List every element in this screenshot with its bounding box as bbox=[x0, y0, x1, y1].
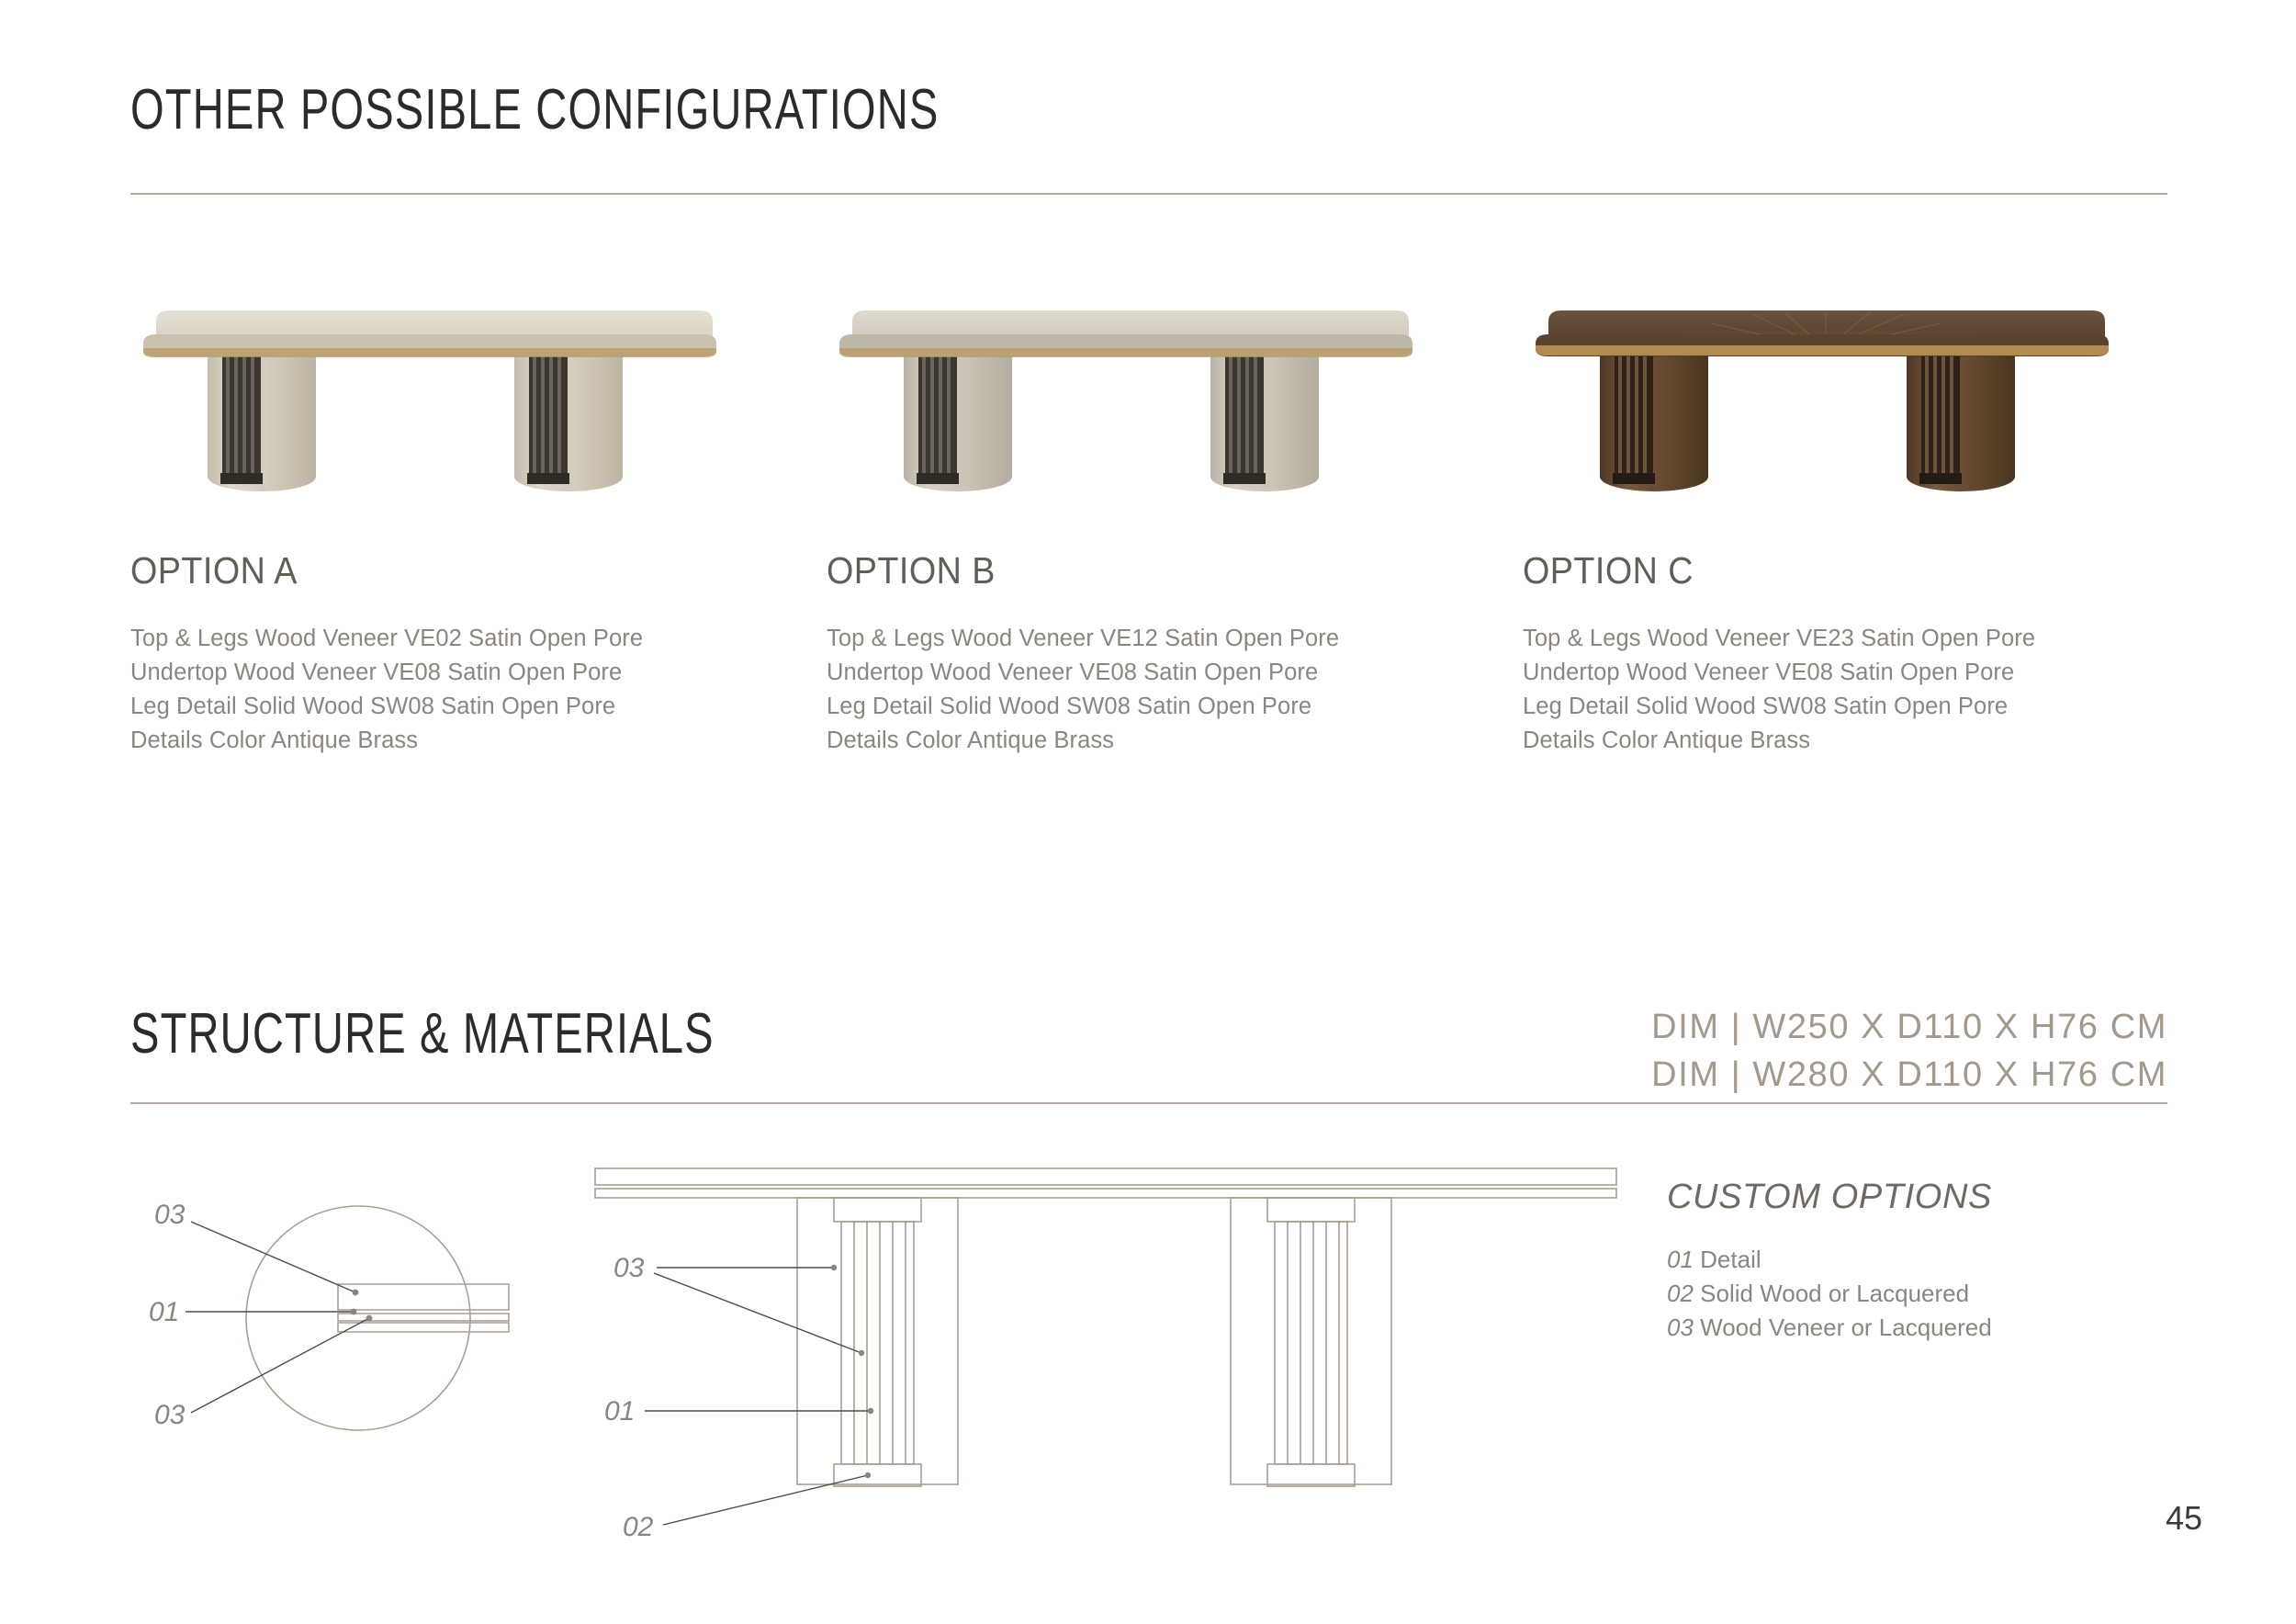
elevation-callout-03: 03 bbox=[613, 1253, 645, 1283]
option-specs-b: Top & Legs Wood Veneer VE12 Satin Open P… bbox=[827, 622, 1511, 758]
catalog-page: OTHER POSSIBLE CONFIGURATIONS bbox=[0, 0, 2296, 1624]
spec-line: Leg Detail Solid Wood SW08 Satin Open Po… bbox=[827, 690, 1511, 724]
option-column-c: OPTION C Top & Legs Wood Veneer VE23 Sat… bbox=[1523, 303, 2207, 758]
custom-option-number: 03 bbox=[1667, 1314, 1694, 1341]
option-label-b: OPTION B bbox=[827, 549, 1456, 592]
spec-line: Leg Detail Solid Wood SW08 Satin Open Po… bbox=[130, 690, 815, 724]
spec-line: Undertop Wood Veneer VE08 Satin Open Por… bbox=[1523, 656, 2207, 690]
option-label-c: OPTION C bbox=[1523, 549, 2152, 592]
option-specs-a: Top & Legs Wood Veneer VE02 Satin Open P… bbox=[130, 622, 815, 758]
custom-option-number: 01 bbox=[1667, 1246, 1694, 1273]
dimension-line: DIM | W250 X D110 X H76 CM bbox=[1651, 1003, 2167, 1051]
divider-middle bbox=[130, 1102, 2167, 1104]
spec-line: Details Color Antique Brass bbox=[130, 724, 815, 758]
custom-option-item: 03 Wood Veneer or Lacquered bbox=[1667, 1311, 1992, 1345]
detail-callout-01: 01 bbox=[149, 1297, 179, 1327]
custom-option-item: 01 Detail bbox=[1667, 1243, 1992, 1277]
custom-option-text: Detail bbox=[1700, 1246, 1761, 1273]
elevation-drawing: 03 01 02 bbox=[588, 1165, 1626, 1551]
option-specs-c: Top & Legs Wood Veneer VE23 Satin Open P… bbox=[1523, 622, 2207, 758]
product-photo-option-c bbox=[1523, 303, 2207, 514]
detail-callout-03-top: 03 bbox=[154, 1200, 186, 1230]
page-title-structure: STRUCTURE & MATERIALS bbox=[130, 1001, 715, 1066]
spec-line: Leg Detail Solid Wood SW08 Satin Open Po… bbox=[1523, 690, 2207, 724]
product-photo-option-b bbox=[827, 303, 1511, 514]
spec-line: Top & Legs Wood Veneer VE12 Satin Open P… bbox=[827, 622, 1511, 656]
spec-line: Details Color Antique Brass bbox=[827, 724, 1511, 758]
page-title-configurations: OTHER POSSIBLE CONFIGURATIONS bbox=[130, 77, 939, 142]
option-column-a: OPTION A Top & Legs Wood Veneer VE02 Sat… bbox=[130, 303, 815, 758]
dimensions-block: DIM | W250 X D110 X H76 CM DIM | W280 X … bbox=[1651, 1003, 2167, 1099]
custom-option-number: 02 bbox=[1667, 1280, 1694, 1307]
elevation-callout-01: 01 bbox=[604, 1396, 635, 1427]
custom-options-title: CUSTOM OPTIONS bbox=[1667, 1178, 1992, 1217]
product-photo-option-a bbox=[130, 303, 815, 514]
custom-options-block: CUSTOM OPTIONS 01 Detail 02 Solid Wood o… bbox=[1667, 1178, 1992, 1345]
detail-callout-03-bottom: 03 bbox=[154, 1400, 186, 1430]
custom-option-text: Solid Wood or Lacquered bbox=[1700, 1280, 1969, 1307]
spec-line: Undertop Wood Veneer VE08 Satin Open Por… bbox=[130, 656, 815, 690]
option-column-b: OPTION B Top & Legs Wood Veneer VE12 Sat… bbox=[827, 303, 1511, 758]
option-label-a: OPTION A bbox=[130, 549, 760, 592]
spec-line: Undertop Wood Veneer VE08 Satin Open Por… bbox=[827, 656, 1511, 690]
spec-line: Top & Legs Wood Veneer VE02 Satin Open P… bbox=[130, 622, 815, 656]
divider-top bbox=[130, 193, 2167, 195]
detail-section-drawing: 03 01 03 bbox=[129, 1176, 569, 1460]
spec-line: Top & Legs Wood Veneer VE23 Satin Open P… bbox=[1523, 622, 2207, 656]
custom-option-text: Wood Veneer or Lacquered bbox=[1700, 1314, 1992, 1341]
custom-options-list: 01 Detail 02 Solid Wood or Lacquered 03 … bbox=[1667, 1243, 1992, 1345]
dimension-line: DIM | W280 X D110 X H76 CM bbox=[1651, 1051, 2167, 1099]
elevation-callout-02: 02 bbox=[623, 1512, 654, 1542]
spec-line: Details Color Antique Brass bbox=[1523, 724, 2207, 758]
page-number: 45 bbox=[2166, 1499, 2202, 1538]
custom-option-item: 02 Solid Wood or Lacquered bbox=[1667, 1277, 1992, 1311]
